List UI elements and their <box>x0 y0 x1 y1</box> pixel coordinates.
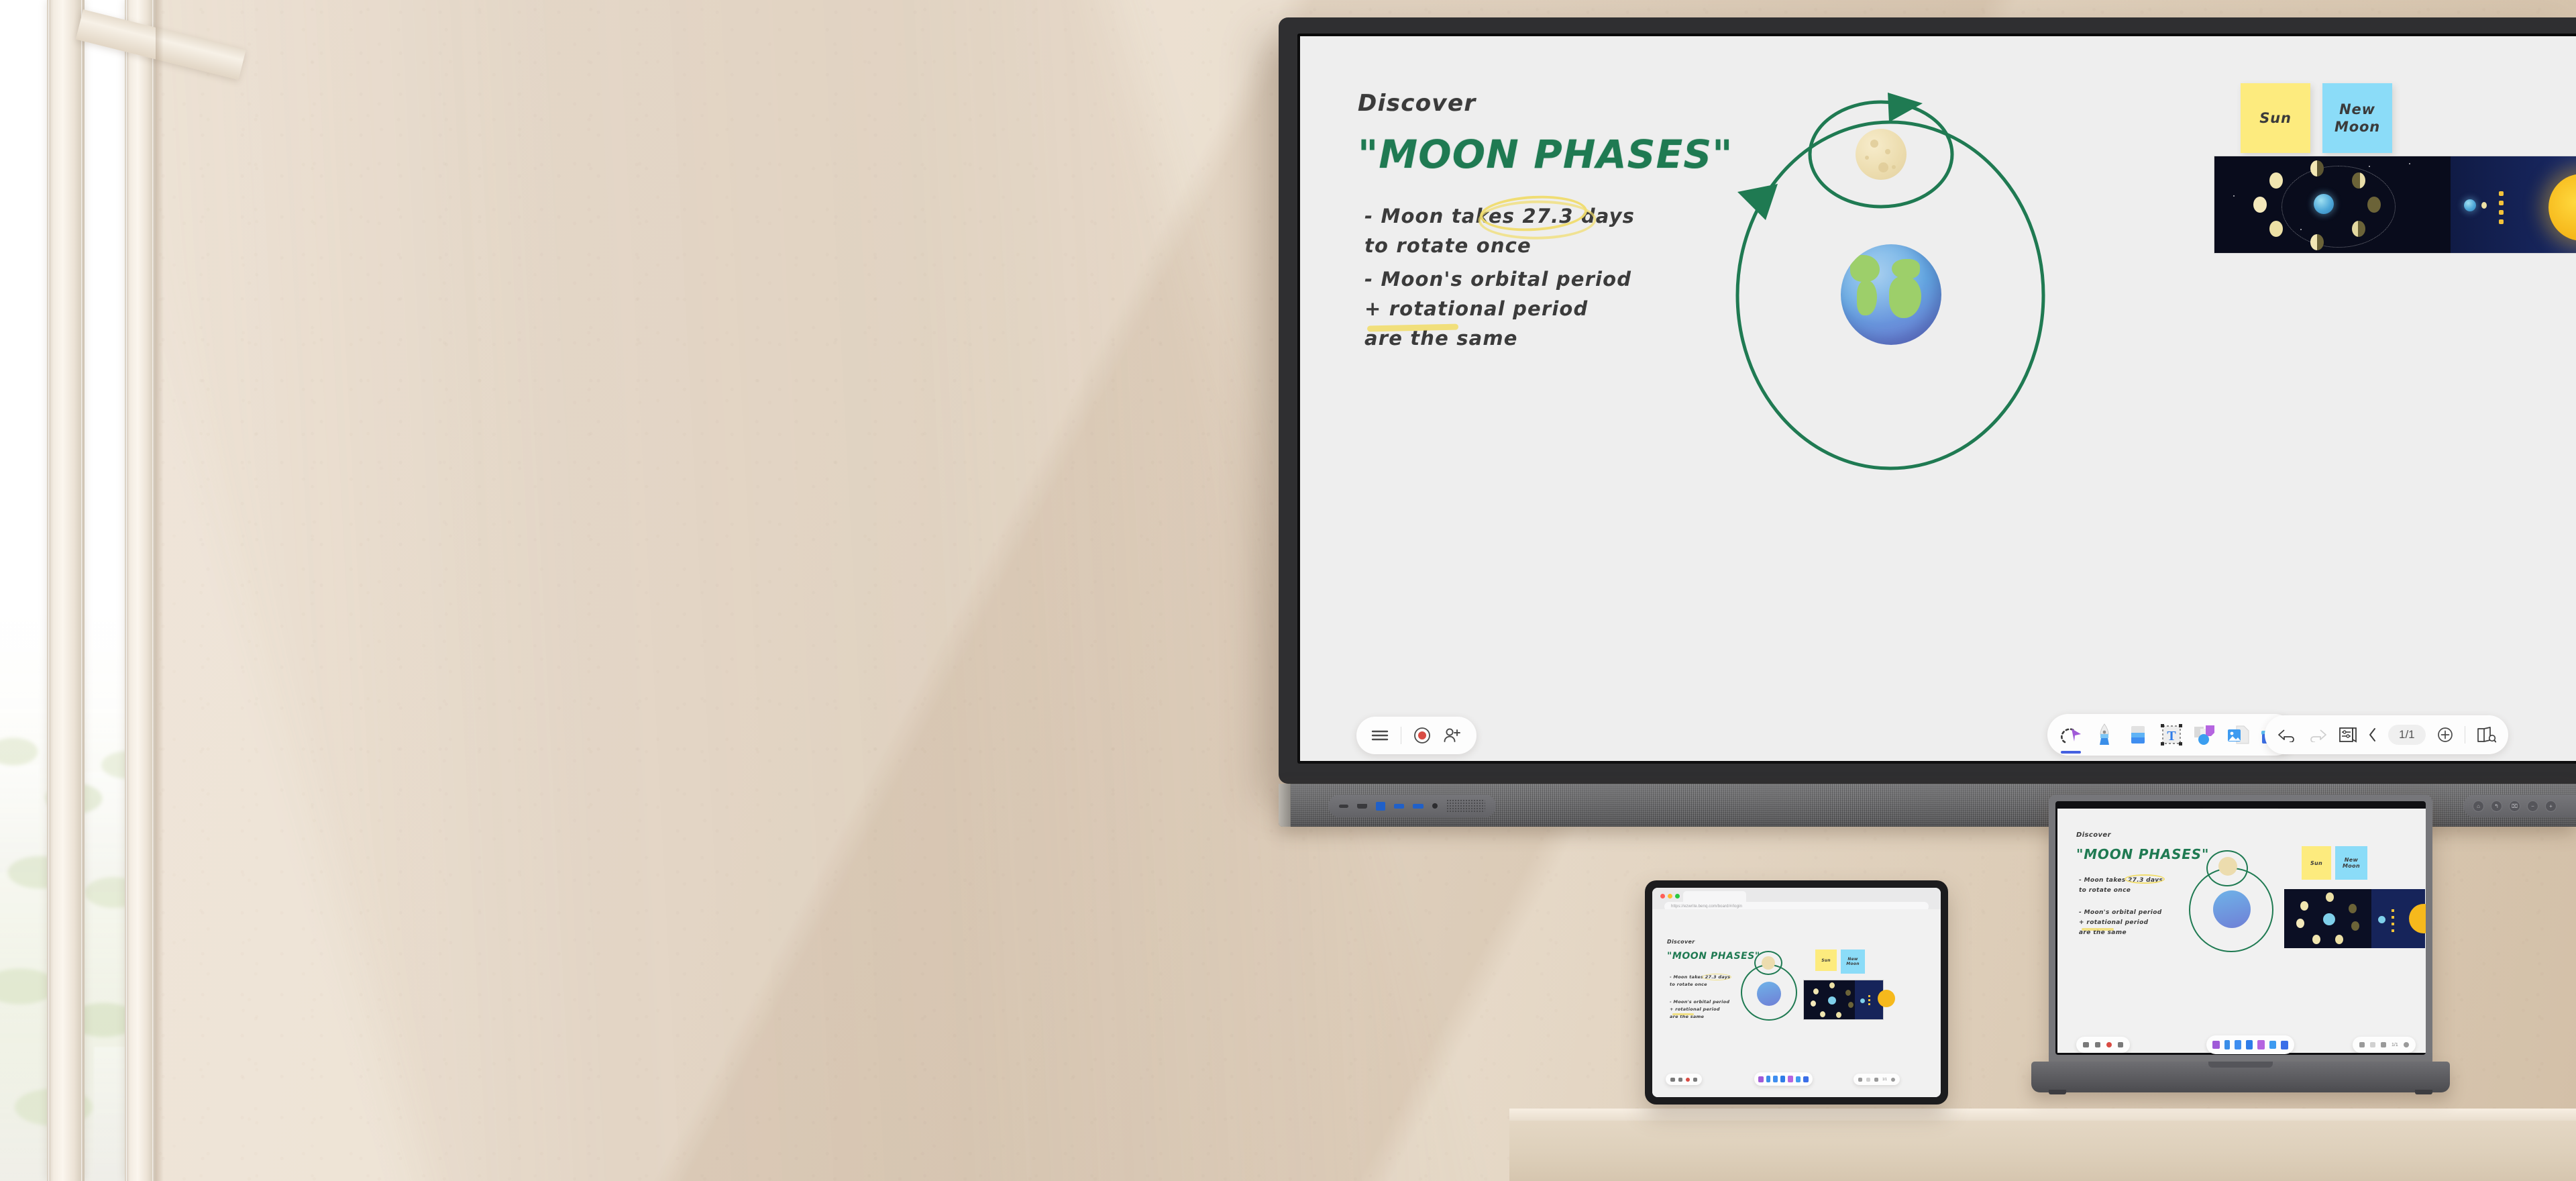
tablet-whiteboard-mirror[interactable]: Discover "MOON PHASES" - Moon takes 27.3… <box>1652 909 1941 1097</box>
tablet-moon-phases-image[interactable] <box>1803 980 1884 1020</box>
volume-down-button[interactable]: − <box>2527 801 2538 812</box>
board-actions-toolbar[interactable] <box>1356 717 1477 754</box>
page-indicator[interactable]: 1/1 <box>2388 725 2426 745</box>
board-eyebrow: Discover <box>1358 90 1477 117</box>
lock-button[interactable]: ⌧ <box>2509 801 2520 812</box>
tablet-device: https://ezwrite.benq.com/board/#/login D… <box>1645 880 1948 1105</box>
toolbar-divider <box>1401 727 1401 744</box>
laptop-moon-phases-image[interactable] <box>2284 889 2425 948</box>
page-overview-icon[interactable] <box>2476 726 2496 743</box>
usb-b-port-icon <box>1376 802 1385 811</box>
hdmi-port-icon <box>1357 804 1368 809</box>
tablet-sticky-sun[interactable]: Sun <box>1815 949 1837 971</box>
laptop-board-bullet-2: - Moon's orbital period+ rotational peri… <box>2079 908 2162 938</box>
tablet-nav-toolbar[interactable]: 1/1 <box>1854 1074 1900 1085</box>
earth-glyph <box>1841 244 1941 345</box>
back-button[interactable]: ↰ <box>2491 801 2502 812</box>
window-minimize-icon[interactable] <box>1668 894 1672 898</box>
room-scene: Discover "MOON PHASES" - Moon takes 27.3… <box>0 0 2576 1181</box>
laptop-nav-toolbar[interactable]: 1/1 <box>2353 1037 2416 1053</box>
hamburger-menu-icon[interactable] <box>1371 729 1389 741</box>
usb-a-port-2-icon <box>1413 804 1424 809</box>
wall-edge-shadow <box>156 0 164 1181</box>
sticky-note-new-moon[interactable]: New Moon <box>2322 83 2392 153</box>
laptop-screen[interactable]: Discover "MOON PHASES" - Moon takes 27.3… <box>2055 801 2426 1055</box>
window-close-icon[interactable] <box>1660 894 1665 898</box>
earth-moon-diagram[interactable] <box>1729 76 2051 493</box>
window-mullion-left <box>47 0 85 1181</box>
usb-c-port-icon <box>1339 805 1348 808</box>
tablet-highlight-circle-icon <box>1702 974 1731 980</box>
window-maximize-icon[interactable] <box>1675 894 1680 898</box>
lasso-select-icon[interactable] <box>2057 721 2085 749</box>
speaker-grille-icon <box>1446 799 1485 813</box>
laptop-foot-right <box>2415 1090 2432 1094</box>
audio-jack-icon <box>1432 803 1438 809</box>
laptop-highlight-underline-icon <box>2082 928 2114 931</box>
tablet-screen[interactable]: https://ezwrite.benq.com/board/#/login D… <box>1652 888 1941 1097</box>
laptop-board-eyebrow: Discover <box>2076 831 2111 839</box>
tablet-highlight-underline-icon <box>1672 1013 1694 1015</box>
volume-up-button[interactable]: + <box>2545 801 2557 812</box>
laptop-lid-lip <box>2208 1062 2273 1068</box>
redo-icon[interactable] <box>2308 727 2328 742</box>
laptop-highlight-circle-icon <box>2125 874 2165 884</box>
highlight-circle-icon <box>1479 193 1589 234</box>
port-panel[interactable] <box>1328 794 1496 817</box>
laptop-sticky-new-moon[interactable]: New Moon <box>2335 846 2367 880</box>
moon-glyph <box>1856 129 1907 180</box>
record-icon[interactable] <box>1413 727 1431 744</box>
browser-chrome: https://ezwrite.benq.com/board/#/login <box>1652 888 1941 909</box>
tablet-actions-toolbar[interactable] <box>1666 1074 1702 1085</box>
tablet-sticky-new-moon[interactable]: New Moon <box>1841 949 1865 974</box>
pen-icon[interactable] <box>2090 721 2118 749</box>
page-navigation-toolbar[interactable]: 1/1 <box>2265 715 2508 754</box>
undo-icon[interactable] <box>2277 727 2297 742</box>
credenza-top-edge <box>1509 1109 2576 1121</box>
laptop-foot-left <box>2049 1090 2066 1094</box>
nav-divider <box>2465 726 2465 743</box>
board-bullet-2: - Moon's orbital period + rotational per… <box>1364 264 1631 353</box>
laptop-board-title: "MOON PHASES" <box>2076 846 2209 862</box>
tablet-tools-toolbar[interactable] <box>1754 1072 1813 1086</box>
laptop-whiteboard-mirror[interactable]: Discover "MOON PHASES" - Moon takes 27.3… <box>2057 809 2426 1053</box>
image-icon[interactable] <box>2224 721 2253 749</box>
board-title: "MOON PHASES" <box>1358 132 1733 177</box>
tablet-board-title: "MOON PHASES" <box>1667 951 1760 962</box>
interactive-display: Discover "MOON PHASES" - Moon takes 27.3… <box>1279 17 2576 784</box>
tablet-board-eyebrow: Discover <box>1667 939 1695 945</box>
prev-page-icon[interactable] <box>2368 727 2377 742</box>
text-box-icon[interactable]: T <box>2157 721 2186 749</box>
display-bezel-inner: Discover "MOON PHASES" - Moon takes 27.3… <box>1297 34 2576 764</box>
tablet-page-indicator: 1/1 <box>1882 1078 1887 1082</box>
board-settings-icon[interactable] <box>2339 726 2357 743</box>
tablet-earth-glyph <box>1757 982 1781 1006</box>
laptop-actions-toolbar[interactable] <box>2076 1037 2130 1053</box>
usb-a-port-icon <box>1394 804 1405 809</box>
laptop-page-indicator: 1/1 <box>2392 1043 2398 1047</box>
add-person-icon[interactable] <box>1443 727 1462 743</box>
browser-tab[interactable] <box>1683 891 1746 903</box>
laptop-tools-toolbar[interactable] <box>2206 1035 2294 1054</box>
tablet-board-bullet-2: - Moon's orbital period+ rotational peri… <box>1670 998 1729 1021</box>
laptop-lid: Discover "MOON PHASES" - Moon takes 27.3… <box>2049 794 2432 1063</box>
display-button-panel[interactable]: ⌂ ↰ ⌧ − + <box>2463 794 2576 817</box>
home-button[interactable]: ⌂ <box>2473 801 2484 812</box>
sticky-note-icon[interactable] <box>2191 721 2219 749</box>
sticky-note-sun[interactable]: Sun <box>2241 83 2310 153</box>
display-bar-left-cap <box>1279 784 1291 827</box>
window <box>0 0 156 1181</box>
moon-phases-image[interactable] <box>2214 156 2576 254</box>
laptop-sticky-sun[interactable]: Sun <box>2302 846 2331 880</box>
add-page-icon[interactable] <box>2436 726 2454 743</box>
drawing-tools-toolbar[interactable]: T <box>2047 714 2296 756</box>
eraser-icon[interactable] <box>2124 721 2152 749</box>
laptop-moon-glyph <box>2218 857 2237 876</box>
whiteboard-canvas[interactable]: Discover "MOON PHASES" - Moon takes 27.3… <box>1300 36 2576 761</box>
tablet-moon-glyph <box>1762 956 1775 970</box>
laptop-earth-glyph <box>2213 890 2251 928</box>
url-text: https://ezwrite.benq.com/board/#/login <box>1671 905 1742 909</box>
laptop-device: Discover "MOON PHASES" - Moon takes 27.3… <box>2031 794 2450 1110</box>
svg-text:T: T <box>2167 729 2176 743</box>
